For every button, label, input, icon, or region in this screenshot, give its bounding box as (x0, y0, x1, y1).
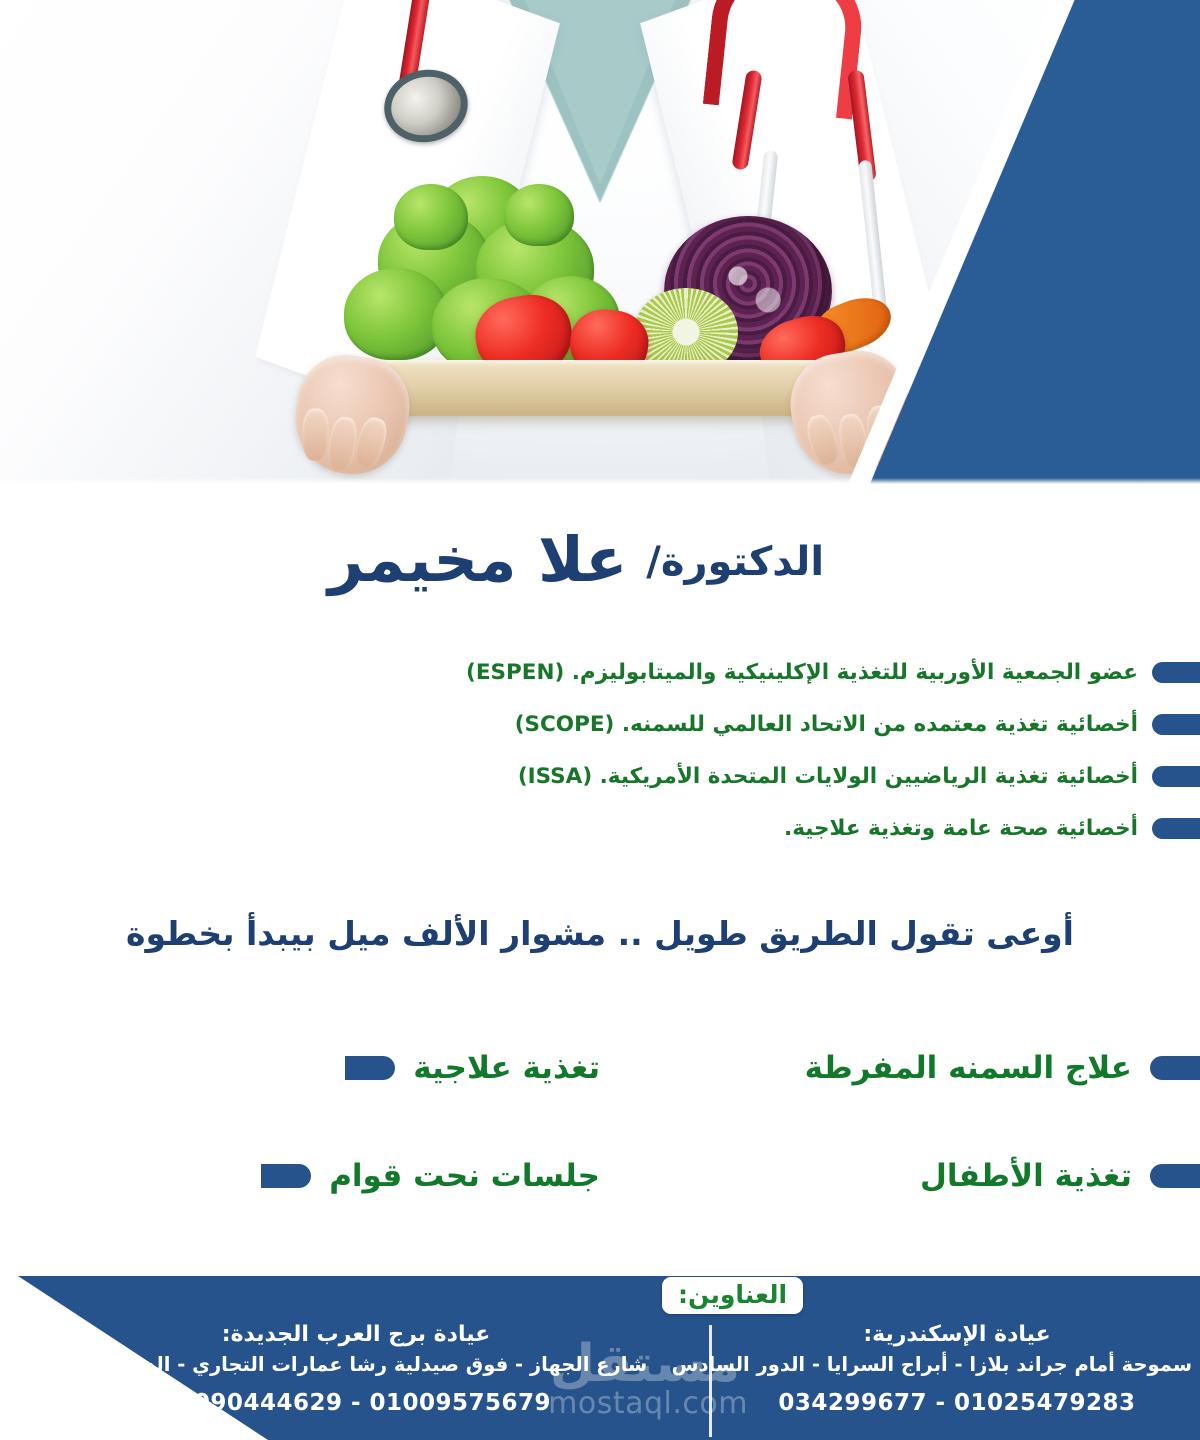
service-item: علاج السمنه المفرطة (600, 1050, 1200, 1086)
slogan-text: أوعى تقول الطريق طويل .. مشوار الألف ميل… (0, 914, 1200, 953)
credentials-list: عضو الجمعية الأوربية للتغذية الإكلينيكية… (0, 646, 1200, 854)
services-row: علاج السمنه المفرطة تغذية علاجية (0, 1014, 1200, 1122)
list-item: أخصائية تغذية الرياضيين الولايات المتحدة… (0, 750, 1200, 802)
bullet-pill-icon (345, 1056, 395, 1080)
clinic-phones[interactable]: 034299677 - 01025479283 (722, 1390, 1192, 1416)
credential-label: أخصائية صحة عامة وتغذية علاجية. (784, 816, 1138, 841)
services-row: تغذية الأطفال جلسات نحت قوام (0, 1122, 1200, 1230)
credential-label: أخصائية تغذية معتمده من الاتحاد العالمي … (515, 712, 1138, 737)
clinic-alexandria: عيادة الإسكندرية: سموحة أمام جراند بلازا… (722, 1322, 1192, 1416)
page-title: الدكتورة/ علا مخيمر (0, 526, 1160, 594)
bullet-pill-icon (1150, 1164, 1200, 1188)
clinic-address: شارع الجهاز - فوق صيدلية رشا عمارات التج… (12, 1353, 700, 1376)
bullet-pill-icon (1152, 766, 1200, 787)
poster-root: الدكتورة/ علا مخيمر عضو الجمعية الأوربية… (0, 0, 1200, 1440)
service-item: جلسات نحت قوام (0, 1158, 600, 1194)
list-item: أخصائية تغذية معتمده من الاتحاد العالمي … (0, 698, 1200, 750)
addresses-badge: العناوين: (662, 1277, 803, 1314)
credential-label: أخصائية تغذية الرياضيين الولايات المتحدة… (518, 764, 1138, 789)
bullet-pill-icon (1150, 1056, 1200, 1080)
wooden-tray (330, 360, 870, 416)
clinic-title: عيادة برج العرب الجديدة: (12, 1322, 700, 1347)
list-item: أخصائية صحة عامة وتغذية علاجية. (0, 802, 1200, 854)
credential-label: عضو الجمعية الأوربية للتغذية الإكلينيكية… (466, 660, 1138, 685)
stethoscope-arc-icon (703, 0, 867, 119)
bullet-pill-icon (261, 1164, 311, 1188)
hero-banner (0, 0, 1200, 484)
clinic-address: سموحة أمام جراند بلازا - أبراج السرايا -… (722, 1353, 1192, 1376)
service-label: جلسات نحت قوام (329, 1158, 600, 1194)
service-item: تغذية علاجية (0, 1050, 600, 1086)
service-label: علاج السمنه المفرطة (805, 1050, 1132, 1086)
doctor-name: علا مخيمر (328, 523, 628, 596)
doctor-title-prefix: الدكتورة/ (646, 539, 832, 585)
clinic-borg-el-arab: عيادة برج العرب الجديدة: شارع الجهاز - ف… (12, 1322, 700, 1416)
service-label: تغذية الأطفال (920, 1158, 1132, 1194)
bullet-pill-icon (1152, 662, 1200, 683)
service-label: تغذية علاجية (413, 1050, 600, 1086)
list-item: عضو الجمعية الأوربية للتغذية الإكلينيكية… (0, 646, 1200, 698)
bullet-pill-icon (1152, 818, 1200, 839)
footer-divider (709, 1325, 712, 1437)
clinic-phones[interactable]: 01090444629 - 01009575679 (12, 1390, 700, 1416)
content-area: الدكتورة/ علا مخيمر عضو الجمعية الأوربية… (0, 484, 1200, 1274)
services-grid: علاج السمنه المفرطة تغذية علاجية تغذية ا… (0, 1014, 1200, 1230)
bullet-pill-icon (1152, 714, 1200, 735)
service-item: تغذية الأطفال (600, 1158, 1200, 1194)
clinic-title: عيادة الإسكندرية: (722, 1322, 1192, 1347)
